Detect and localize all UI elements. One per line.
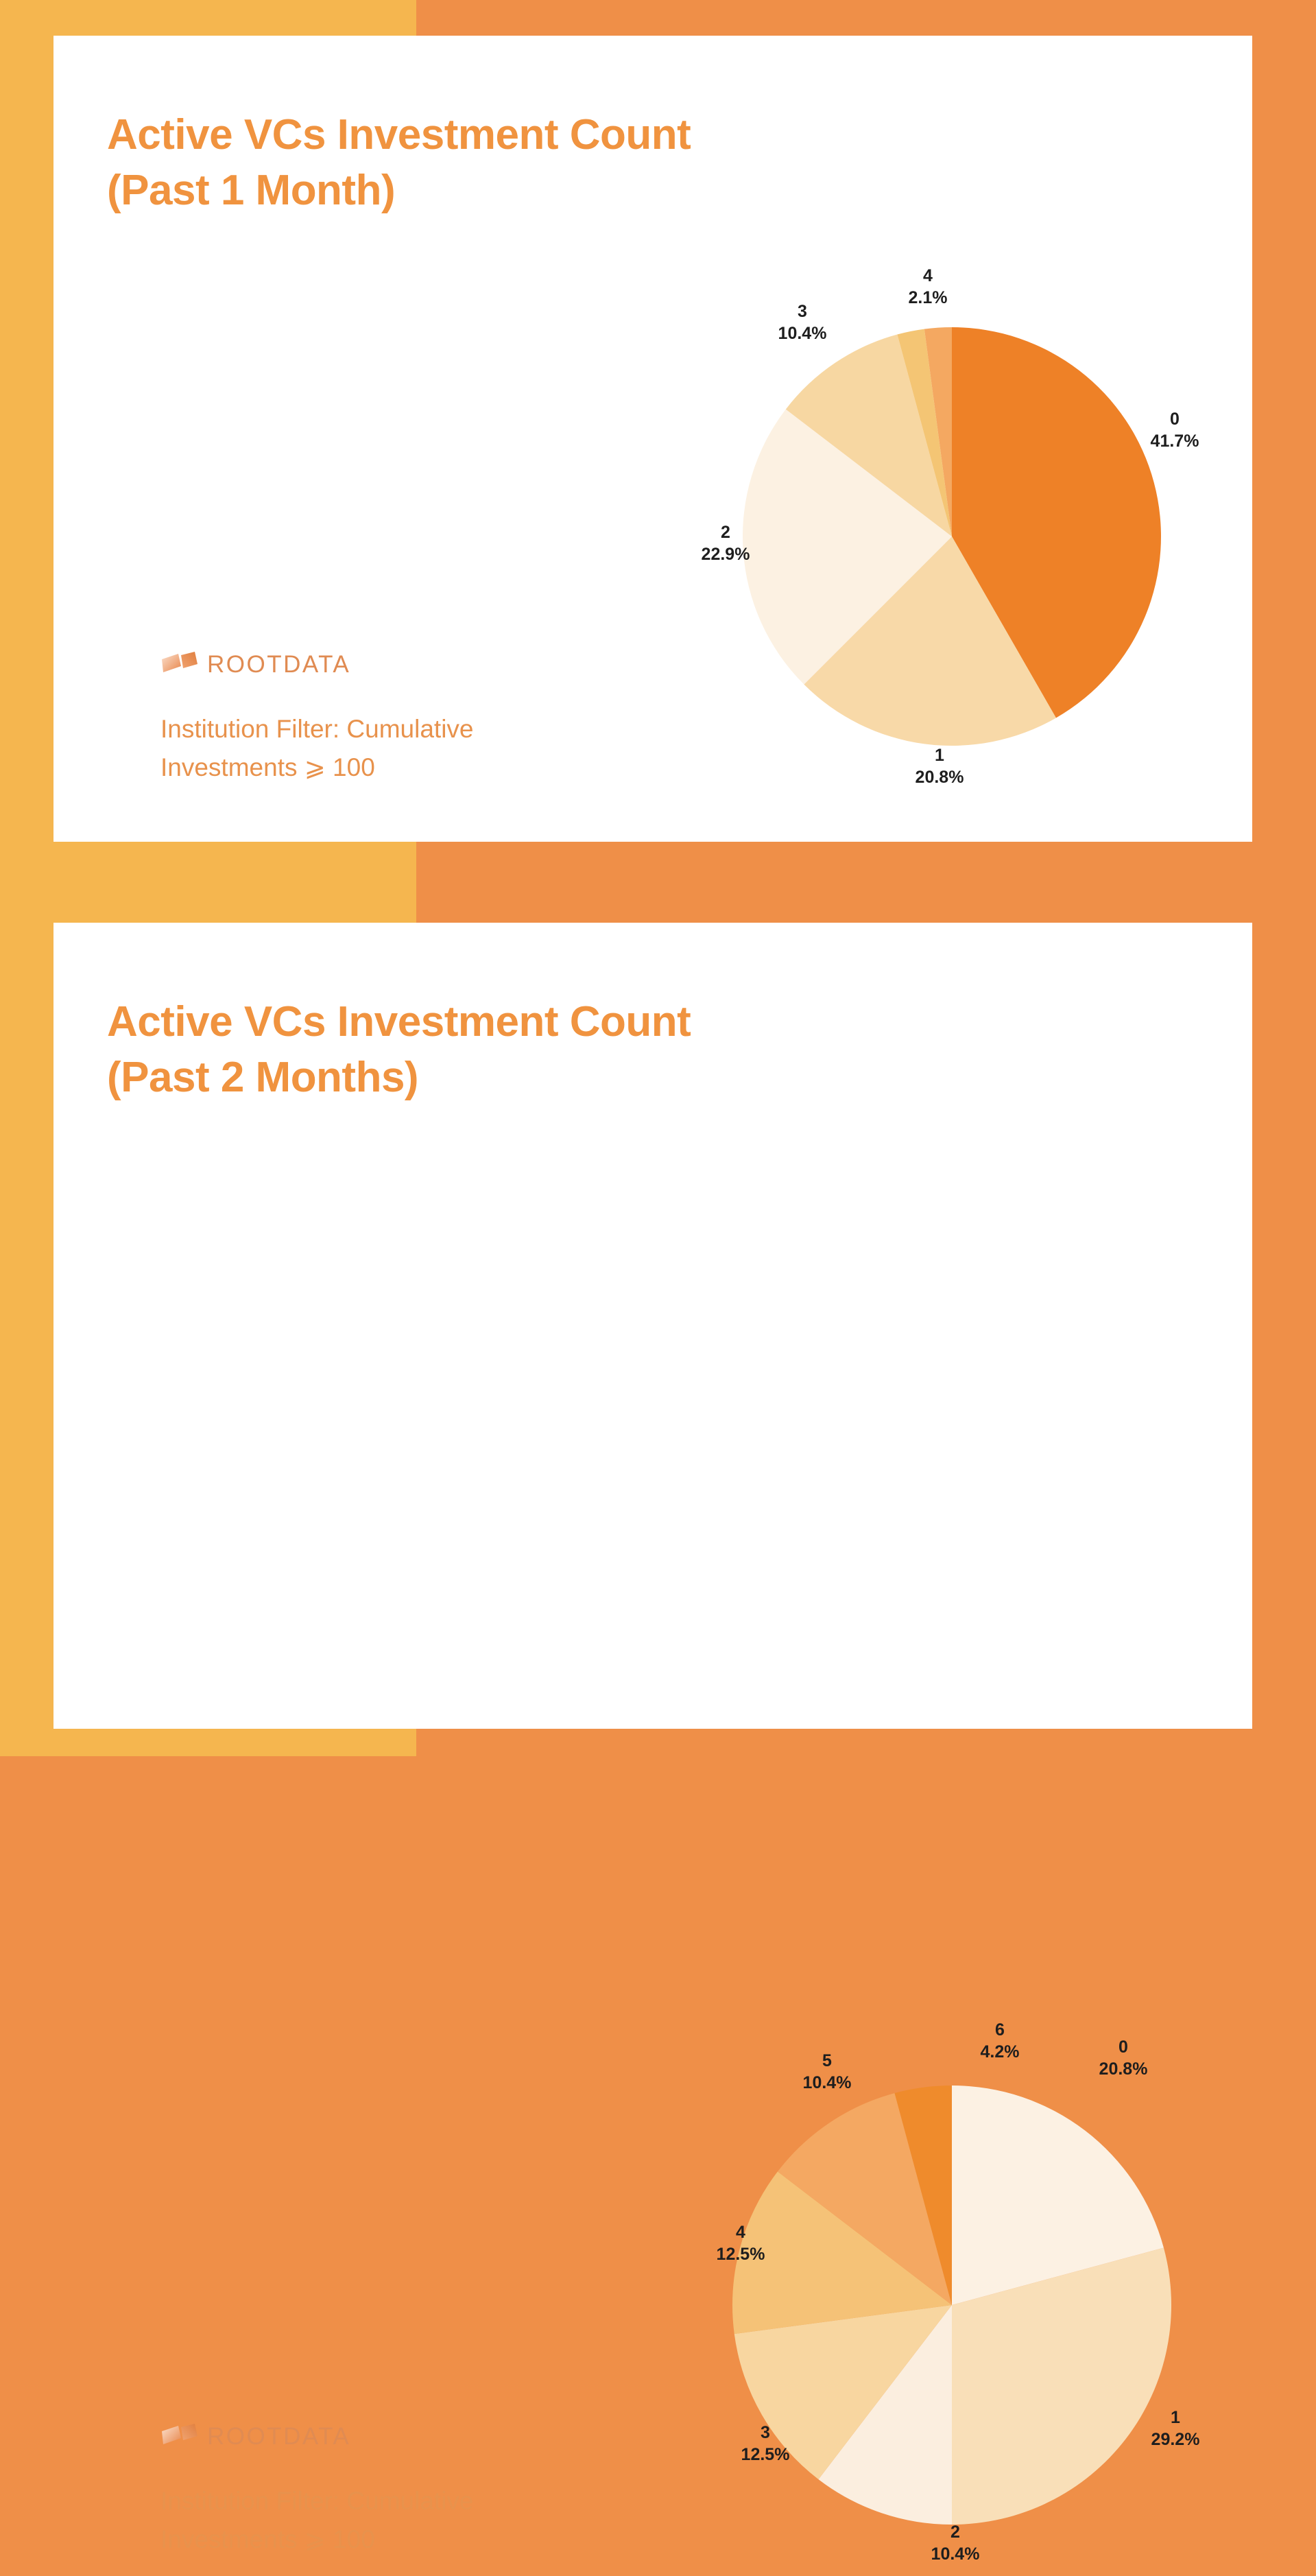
- pie-label-name: 4: [717, 2221, 765, 2243]
- pie-label-percent: 29.2%: [1151, 2429, 1200, 2450]
- pie-chart-past-1-month: 041.7%120.8%222.9%310.4%42.1%: [691, 262, 1212, 797]
- pie-label-4: 412.5%: [717, 2221, 765, 2265]
- rootdata-flag-icon: [160, 2423, 200, 2450]
- pie-label-percent: 22.9%: [702, 543, 750, 565]
- filter-note-line-1: Institution Filter: Cumulative: [160, 2482, 599, 2520]
- pie-label-name: 5: [803, 2050, 852, 2072]
- pie-label-name: 6: [981, 2019, 1020, 2041]
- pie-label-percent: 10.4%: [931, 2543, 980, 2565]
- pie-label-percent: 4.2%: [981, 2041, 1020, 2063]
- pie-label-percent: 10.4%: [803, 2072, 852, 2094]
- pie-label-percent: 2.1%: [909, 287, 948, 309]
- card-title-line-1: Active VCs Investment Count: [107, 994, 738, 1050]
- rootdata-flag-icon: [160, 651, 200, 678]
- pie-label-name: 2: [702, 521, 750, 543]
- pie-label-6: 64.2%: [981, 2019, 1020, 2063]
- pie-label-name: 1: [916, 744, 964, 766]
- filter-note-line-2: Investments ⩾ 100: [160, 2520, 599, 2559]
- pie-label-name: 0: [1151, 408, 1199, 430]
- pie-label-3: 312.5%: [741, 2422, 790, 2466]
- pie-label-2: 222.9%: [702, 521, 750, 565]
- pie-label-3: 310.4%: [778, 300, 827, 344]
- card-title-line-1: Active VCs Investment Count: [107, 107, 738, 163]
- chart-card-past-2-months: Active VCs Investment Count (Past 2 Mont…: [53, 923, 1252, 1729]
- card-title-line-2: (Past 2 Months): [107, 1050, 738, 1106]
- pie-label-2: 210.4%: [931, 2521, 980, 2565]
- pie-label-percent: 20.8%: [1099, 2058, 1148, 2080]
- pie-label-percent: 12.5%: [741, 2444, 790, 2466]
- pie-label-1: 129.2%: [1151, 2407, 1200, 2450]
- brand-logo: ROOTDATA: [160, 651, 350, 678]
- brand-name: ROOTDATA: [207, 2423, 350, 2450]
- pie-label-5: 510.4%: [803, 2050, 852, 2094]
- page-title: Active VCs Investment Count (Past 1 Mont…: [107, 107, 738, 220]
- pie-label-percent: 10.4%: [778, 322, 827, 344]
- pie-label-name: 4: [909, 265, 948, 287]
- pie-label-percent: 12.5%: [717, 2243, 765, 2265]
- pie-chart-svg: [691, 2027, 1212, 2576]
- brand-logo: ROOTDATA: [160, 2423, 350, 2450]
- filter-note-line-1: Institution Filter: Cumulative: [160, 710, 599, 748]
- pie-label-percent: 41.7%: [1151, 430, 1199, 452]
- pie-label-percent: 20.8%: [916, 766, 964, 788]
- chart-card-past-1-month: Active VCs Investment Count (Past 1 Mont…: [53, 36, 1252, 842]
- pie-label-name: 2: [931, 2521, 980, 2543]
- brand-name: ROOTDATA: [207, 651, 350, 678]
- filter-note: Institution Filter: Cumulative Investmen…: [160, 710, 599, 786]
- pie-label-name: 3: [778, 300, 827, 322]
- filter-note: Institution Filter: Cumulative Investmen…: [160, 2482, 599, 2558]
- filter-note-line-2: Investments ⩾ 100: [160, 748, 599, 787]
- pie-label-1: 120.8%: [916, 744, 964, 788]
- pie-label-0: 020.8%: [1099, 2036, 1148, 2080]
- pie-label-0: 041.7%: [1151, 408, 1199, 452]
- pie-chart-past-2-months: 020.8%129.2%210.4%312.5%412.5%510.4%64.2…: [691, 2027, 1212, 2576]
- card-stack: Active VCs Investment Count (Past 1 Mont…: [0, 0, 1316, 1756]
- page-title-2: Active VCs Investment Count (Past 2 Mont…: [107, 994, 738, 1107]
- pie-label-name: 1: [1151, 2407, 1200, 2429]
- pie-label-name: 3: [741, 2422, 790, 2444]
- pie-chart-svg: [691, 262, 1212, 797]
- pie-label-4: 42.1%: [909, 265, 948, 309]
- card-title-line-2: (Past 1 Month): [107, 163, 738, 219]
- pie-label-name: 0: [1099, 2036, 1148, 2058]
